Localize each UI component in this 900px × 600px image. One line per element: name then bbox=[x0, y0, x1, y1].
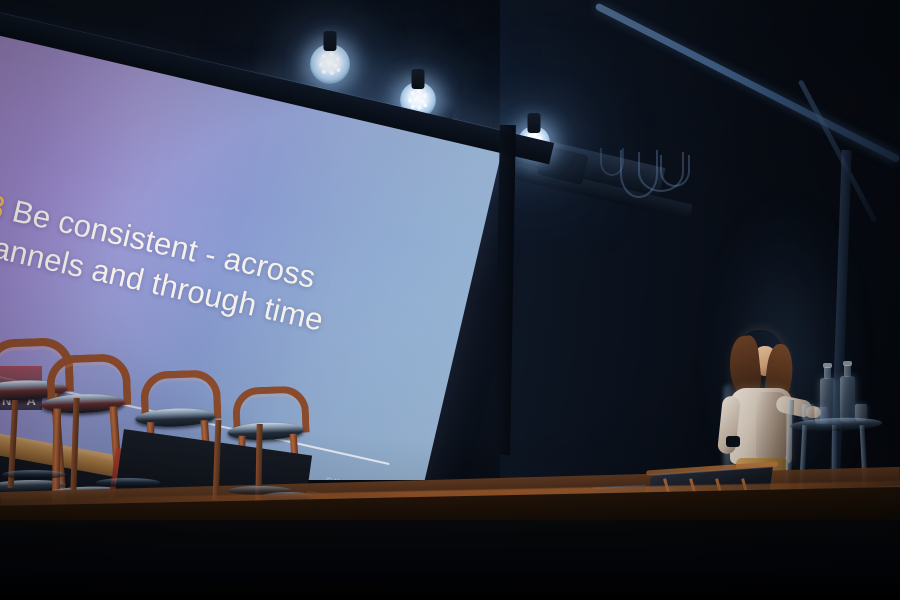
foreground-darkness bbox=[0, 520, 900, 600]
hanging-cable bbox=[600, 148, 624, 176]
light-yoke bbox=[528, 113, 541, 133]
stool-footrest-ring bbox=[96, 478, 160, 487]
bottle-neck bbox=[824, 367, 831, 379]
presentation-clicker bbox=[726, 436, 740, 447]
slide-heading-text: Be consistent - across channels and thro… bbox=[0, 191, 327, 337]
slide-footer-credit: © Kantar 2020 | 17 bbox=[325, 475, 396, 480]
bottle-cap bbox=[823, 363, 832, 368]
bottle-cap bbox=[843, 361, 852, 366]
water-bottle bbox=[840, 376, 855, 422]
drinking-glass bbox=[802, 404, 814, 421]
slide-heading: #3 Be consistent - across channels and t… bbox=[0, 182, 434, 363]
bottle-neck bbox=[844, 365, 851, 377]
hanging-cable bbox=[660, 155, 690, 187]
stage-photo-scene: #3 Be consistent - across channels and t… bbox=[0, 0, 900, 600]
stool-footrest-ring bbox=[2, 470, 66, 479]
